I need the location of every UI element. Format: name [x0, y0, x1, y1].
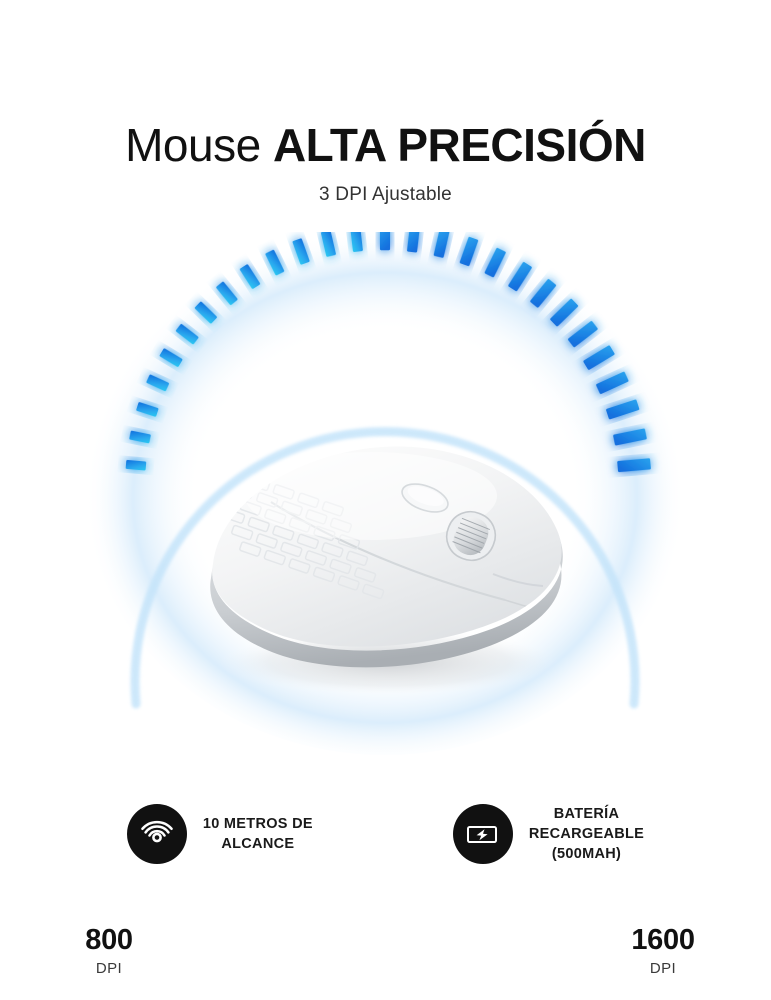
feature-range-line-1: 10 METROS DE: [203, 814, 313, 834]
page-title-light: Mouse: [125, 119, 261, 171]
dpi-label-right: 1600 DPI: [608, 926, 718, 976]
feature-range-line-2: ALCANCE: [203, 834, 313, 854]
feature-battery-line-2: RECARGEABLE: [529, 824, 644, 844]
dpi-right-value: 1600: [608, 926, 718, 955]
feature-range: 10 METROS DE ALCANCE: [127, 804, 313, 864]
rechargeable-battery-icon: [453, 804, 513, 864]
page-title-bold: ALTA PRECISIÓN: [273, 119, 646, 171]
feature-battery-line-1: BATERÍA: [529, 804, 644, 824]
dpi-label-left: 800 DPI: [54, 926, 164, 976]
header: Mouse ALTA PRECISIÓN 3 DPI Ajustable: [0, 118, 771, 206]
page-subtitle: 3 DPI Ajustable: [0, 184, 771, 206]
arc-tick: [380, 232, 390, 250]
page-title: Mouse ALTA PRECISIÓN: [0, 118, 771, 172]
feature-battery: BATERÍA RECARGEABLE (500MAH): [453, 804, 644, 864]
dpi-left-value: 800: [54, 926, 164, 955]
dpi-left-unit: DPI: [54, 961, 164, 976]
feature-battery-text: BATERÍA RECARGEABLE (500MAH): [529, 804, 644, 864]
feature-list: 10 METROS DE ALCANCE BATERÍA RECARGEABLE…: [0, 804, 771, 864]
product-image-mouse: [175, 424, 595, 714]
feature-range-text: 10 METROS DE ALCANCE: [203, 814, 313, 854]
arc-tick: [126, 460, 147, 471]
dpi-right-unit: DPI: [608, 961, 718, 976]
feature-battery-line-3: (500MAH): [529, 844, 644, 864]
wireless-signal-icon: [127, 804, 187, 864]
